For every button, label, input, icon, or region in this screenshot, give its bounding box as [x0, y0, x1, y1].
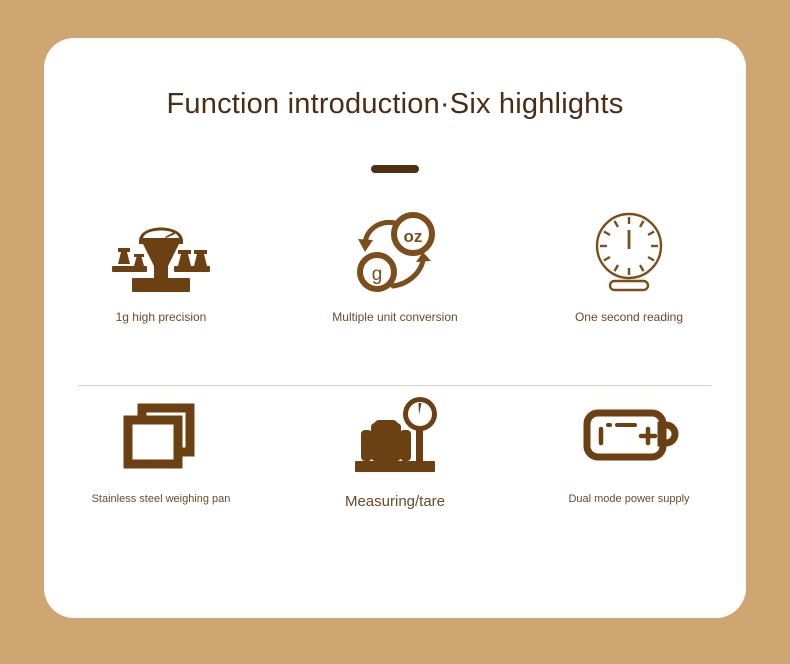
- luggage-platform-scale-icon: [349, 395, 441, 479]
- features-row-top: 1g high precision: [44, 198, 746, 381]
- icon-container: [586, 198, 672, 310]
- feature-item-stainless-steel-weighing-pan[interactable]: Stainless steel weighing pan: [44, 381, 278, 564]
- feature-item-multiple-unit-conversion[interactable]: oz g Multiple unit conversion: [278, 198, 512, 381]
- feature-label: Dual mode power supply: [568, 493, 689, 505]
- stacked-weighing-pans-icon: [120, 400, 202, 474]
- feature-label: 1g high precision: [116, 310, 207, 324]
- unit-badge-oz: oz: [404, 227, 423, 246]
- icon-container: [579, 381, 679, 493]
- page-title: Function introduction·Six highlights: [44, 88, 746, 121]
- icon-container: oz g: [349, 198, 441, 310]
- icon-container: [349, 381, 441, 493]
- clock-dial-icon: [586, 211, 672, 297]
- features-grid: 1g high precision: [44, 198, 746, 564]
- feature-item-measuring-tare[interactable]: Measuring/tare: [278, 381, 512, 564]
- feature-label: Multiple unit conversion: [332, 310, 457, 324]
- icon-container: [110, 198, 212, 310]
- feature-label: One second reading: [575, 310, 683, 324]
- content-card: Function introduction·Six highlights: [44, 38, 746, 618]
- icon-container: [120, 381, 202, 493]
- poster-page: Function introduction·Six highlights: [0, 0, 790, 664]
- title-underline-dash: [371, 165, 419, 173]
- unit-conversion-g-oz-icon: oz g: [349, 210, 441, 298]
- unit-badge-g: g: [372, 264, 383, 285]
- battery-icon: [579, 401, 679, 473]
- feature-label: Measuring/tare: [345, 493, 445, 510]
- balance-scale-weights-icon: [110, 214, 212, 294]
- feature-item-dual-mode-power-supply[interactable]: Dual mode power supply: [512, 381, 746, 564]
- feature-label: Stainless steel weighing pan: [92, 493, 231, 505]
- features-row-bottom: Stainless steel weighing pan: [44, 381, 746, 564]
- feature-item-one-second-reading[interactable]: One second reading: [512, 198, 746, 381]
- feature-item-1g-high-precision[interactable]: 1g high precision: [44, 198, 278, 381]
